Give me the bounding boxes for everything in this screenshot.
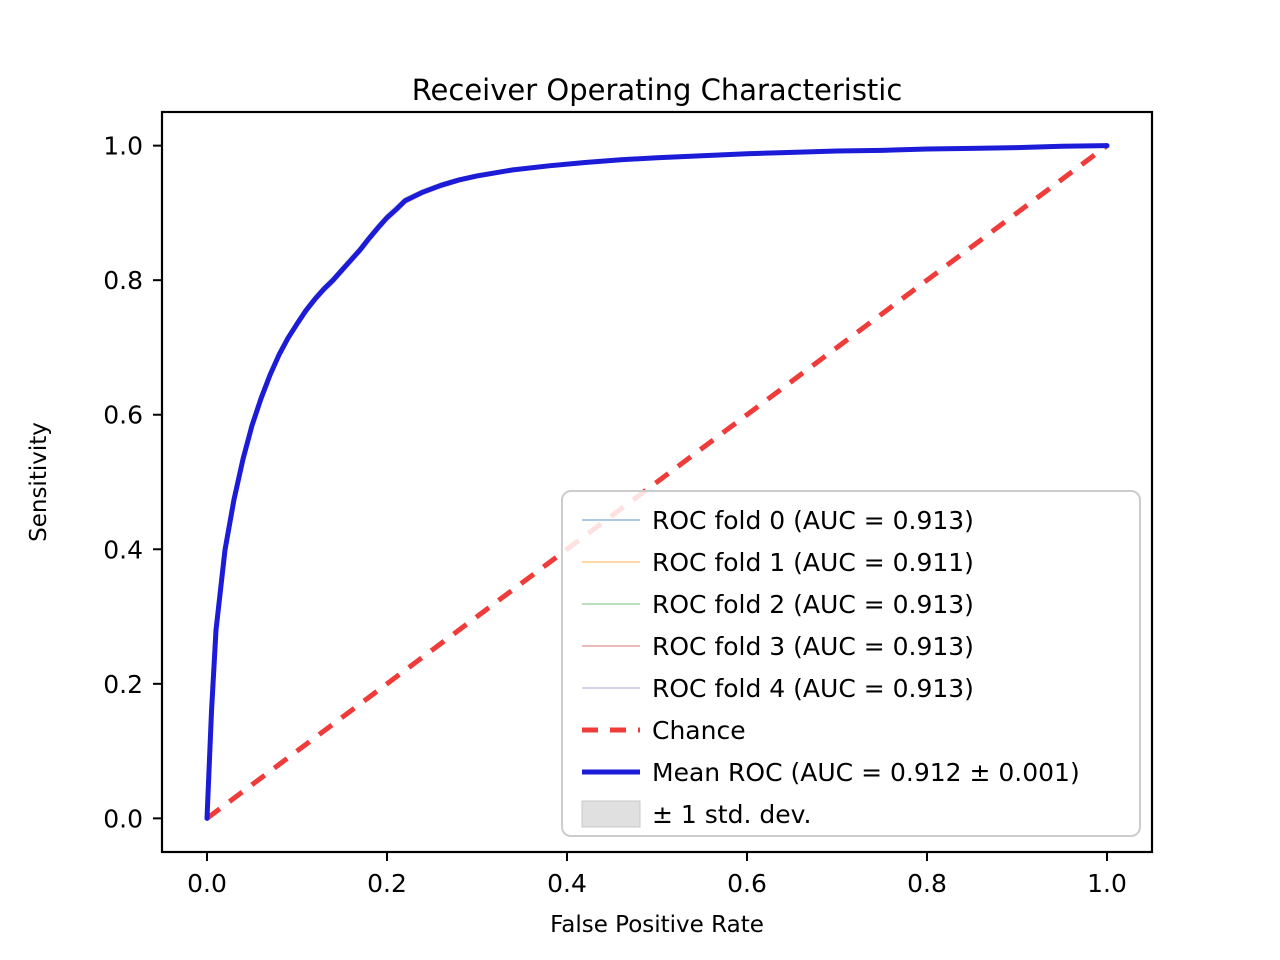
chart-title: Receiver Operating Characteristic (412, 73, 903, 107)
x-axis-label: False Positive Rate (550, 912, 764, 938)
roc-chart-svg: Receiver Operating Characteristic 0.00.2… (0, 0, 1280, 960)
legend-label-7: ± 1 std. dev. (652, 800, 811, 829)
legend-label-1: ROC fold 1 (AUC = 0.911) (652, 548, 974, 577)
y-tick-label: 0.2 (103, 670, 143, 699)
x-tick-label: 0.4 (547, 869, 587, 898)
legend-label-6: Mean ROC (AUC = 0.912 ± 0.001) (652, 758, 1080, 787)
y-axis-label: Sensitivity (26, 422, 52, 542)
legend-label-5: Chance (652, 716, 746, 745)
y-tick-label: 0.6 (103, 401, 143, 430)
y-tick-label: 0.4 (103, 535, 143, 564)
legend-label-4: ROC fold 4 (AUC = 0.913) (652, 674, 974, 703)
x-tick-label: 0.0 (187, 869, 227, 898)
legend-swatch-std-dev (582, 801, 640, 827)
legend-label-3: ROC fold 3 (AUC = 0.913) (652, 632, 974, 661)
chart-legend[interactable]: ROC fold 0 (AUC = 0.913)ROC fold 1 (AUC … (562, 491, 1140, 836)
x-tick-label: 0.2 (367, 869, 407, 898)
x-tick-label: 0.6 (727, 869, 767, 898)
y-tick-label: 0.8 (103, 266, 143, 295)
legend-label-0: ROC fold 0 (AUC = 0.913) (652, 506, 974, 535)
x-tick-label: 1.0 (1087, 869, 1127, 898)
roc-figure: Receiver Operating Characteristic 0.00.2… (0, 0, 1280, 960)
legend-label-2: ROC fold 2 (AUC = 0.913) (652, 590, 974, 619)
y-tick-label: 0.0 (103, 804, 143, 833)
y-tick-label: 1.0 (103, 132, 143, 161)
x-tick-label: 0.8 (907, 869, 947, 898)
